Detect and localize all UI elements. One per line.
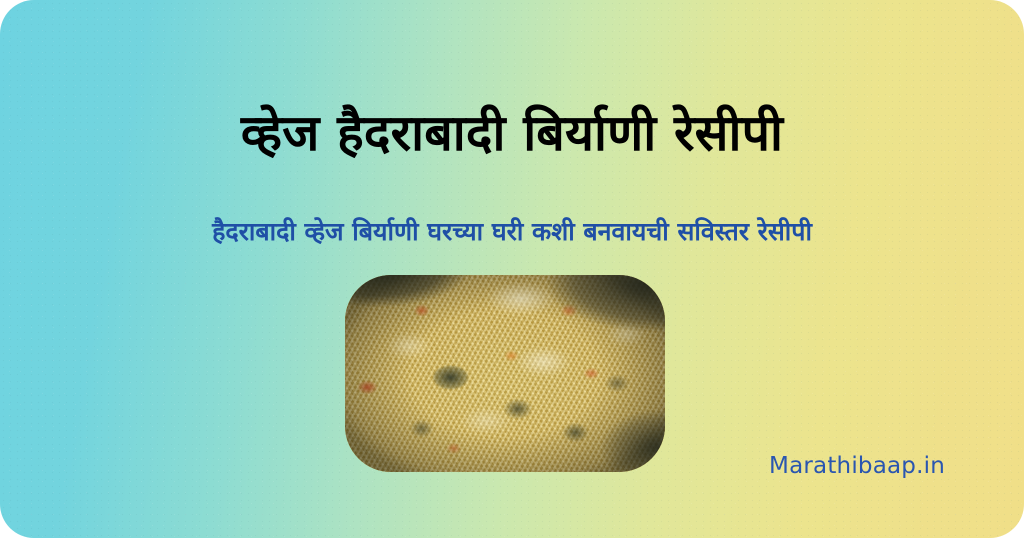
biryani-photo [345,275,665,472]
site-watermark: Marathibaap.in [769,452,945,480]
page-title: व्हेज हैदराबादी बिर्याणी रेसीपी [0,100,1024,166]
recipe-banner: व्हेज हैदराबादी बिर्याणी रेसीपी हैदराबाद… [0,0,1024,538]
photo-vignette-overlay [345,275,665,472]
page-subtitle: हैदराबादी व्हेज बिर्याणी घरच्या घरी कशी … [0,214,1024,250]
